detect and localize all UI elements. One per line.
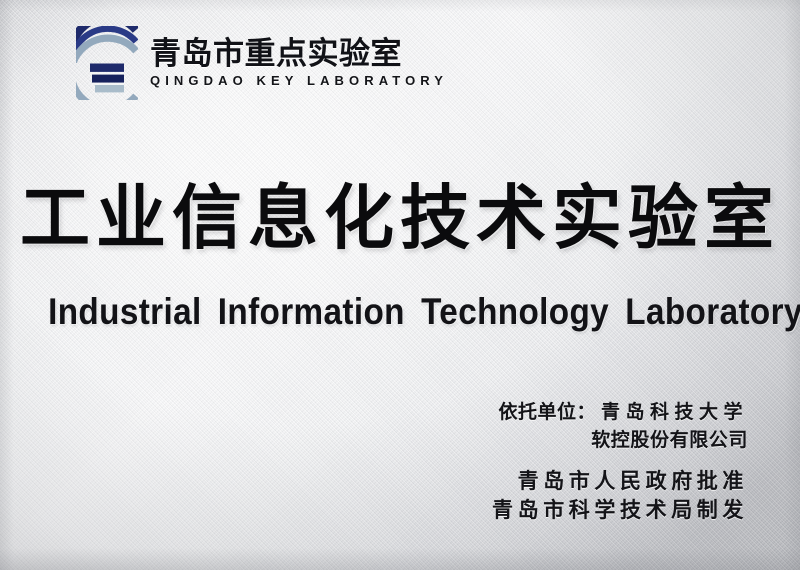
page-title-english: IndustrialInformationTechnologyLaborator… (40, 293, 760, 330)
title-word-1: Industrial (48, 291, 201, 332)
host-unit-row: 依托单位：青岛科技大学 (492, 398, 748, 426)
logo-wordmark: 青岛市重点实验室 QINGDAO KEY LABORATORY (150, 38, 448, 89)
page-title-chinese: 工业信息化技术实验室 (0, 183, 800, 253)
logo-lockup: 青岛市重点实验室 QINGDAO KEY LABORATORY (76, 26, 448, 100)
laboratory-plaque: 青岛市重点实验室 QINGDAO KEY LABORATORY 工业信息化技术实… (0, 0, 800, 570)
issuing-authority-line: 青岛市科学技术局制发 (492, 496, 748, 525)
logo-english-name: QINGDAO KEY LABORATORY (150, 74, 448, 88)
approval-block: 青岛市人民政府批准 青岛市科学技术局制发 (492, 467, 748, 525)
title-word-3: Technology (421, 291, 609, 332)
title-word-2: Information (218, 291, 405, 332)
host-unit-company: 软控股份有限公司 (492, 426, 748, 454)
logo-chinese-name: 青岛市重点实验室 (150, 38, 448, 71)
host-unit-institution: 青岛科技大学 (601, 401, 748, 423)
qingdao-key-laboratory-emblem-icon (76, 26, 138, 100)
title-word-4: Laboratory (625, 291, 800, 332)
credits-block: 依托单位：青岛科技大学 软控股份有限公司 青岛市人民政府批准 青岛市科学技术局制… (492, 398, 748, 525)
approval-authority-line: 青岛市人民政府批准 (492, 467, 748, 496)
host-unit-label: 依托单位： (498, 401, 596, 423)
